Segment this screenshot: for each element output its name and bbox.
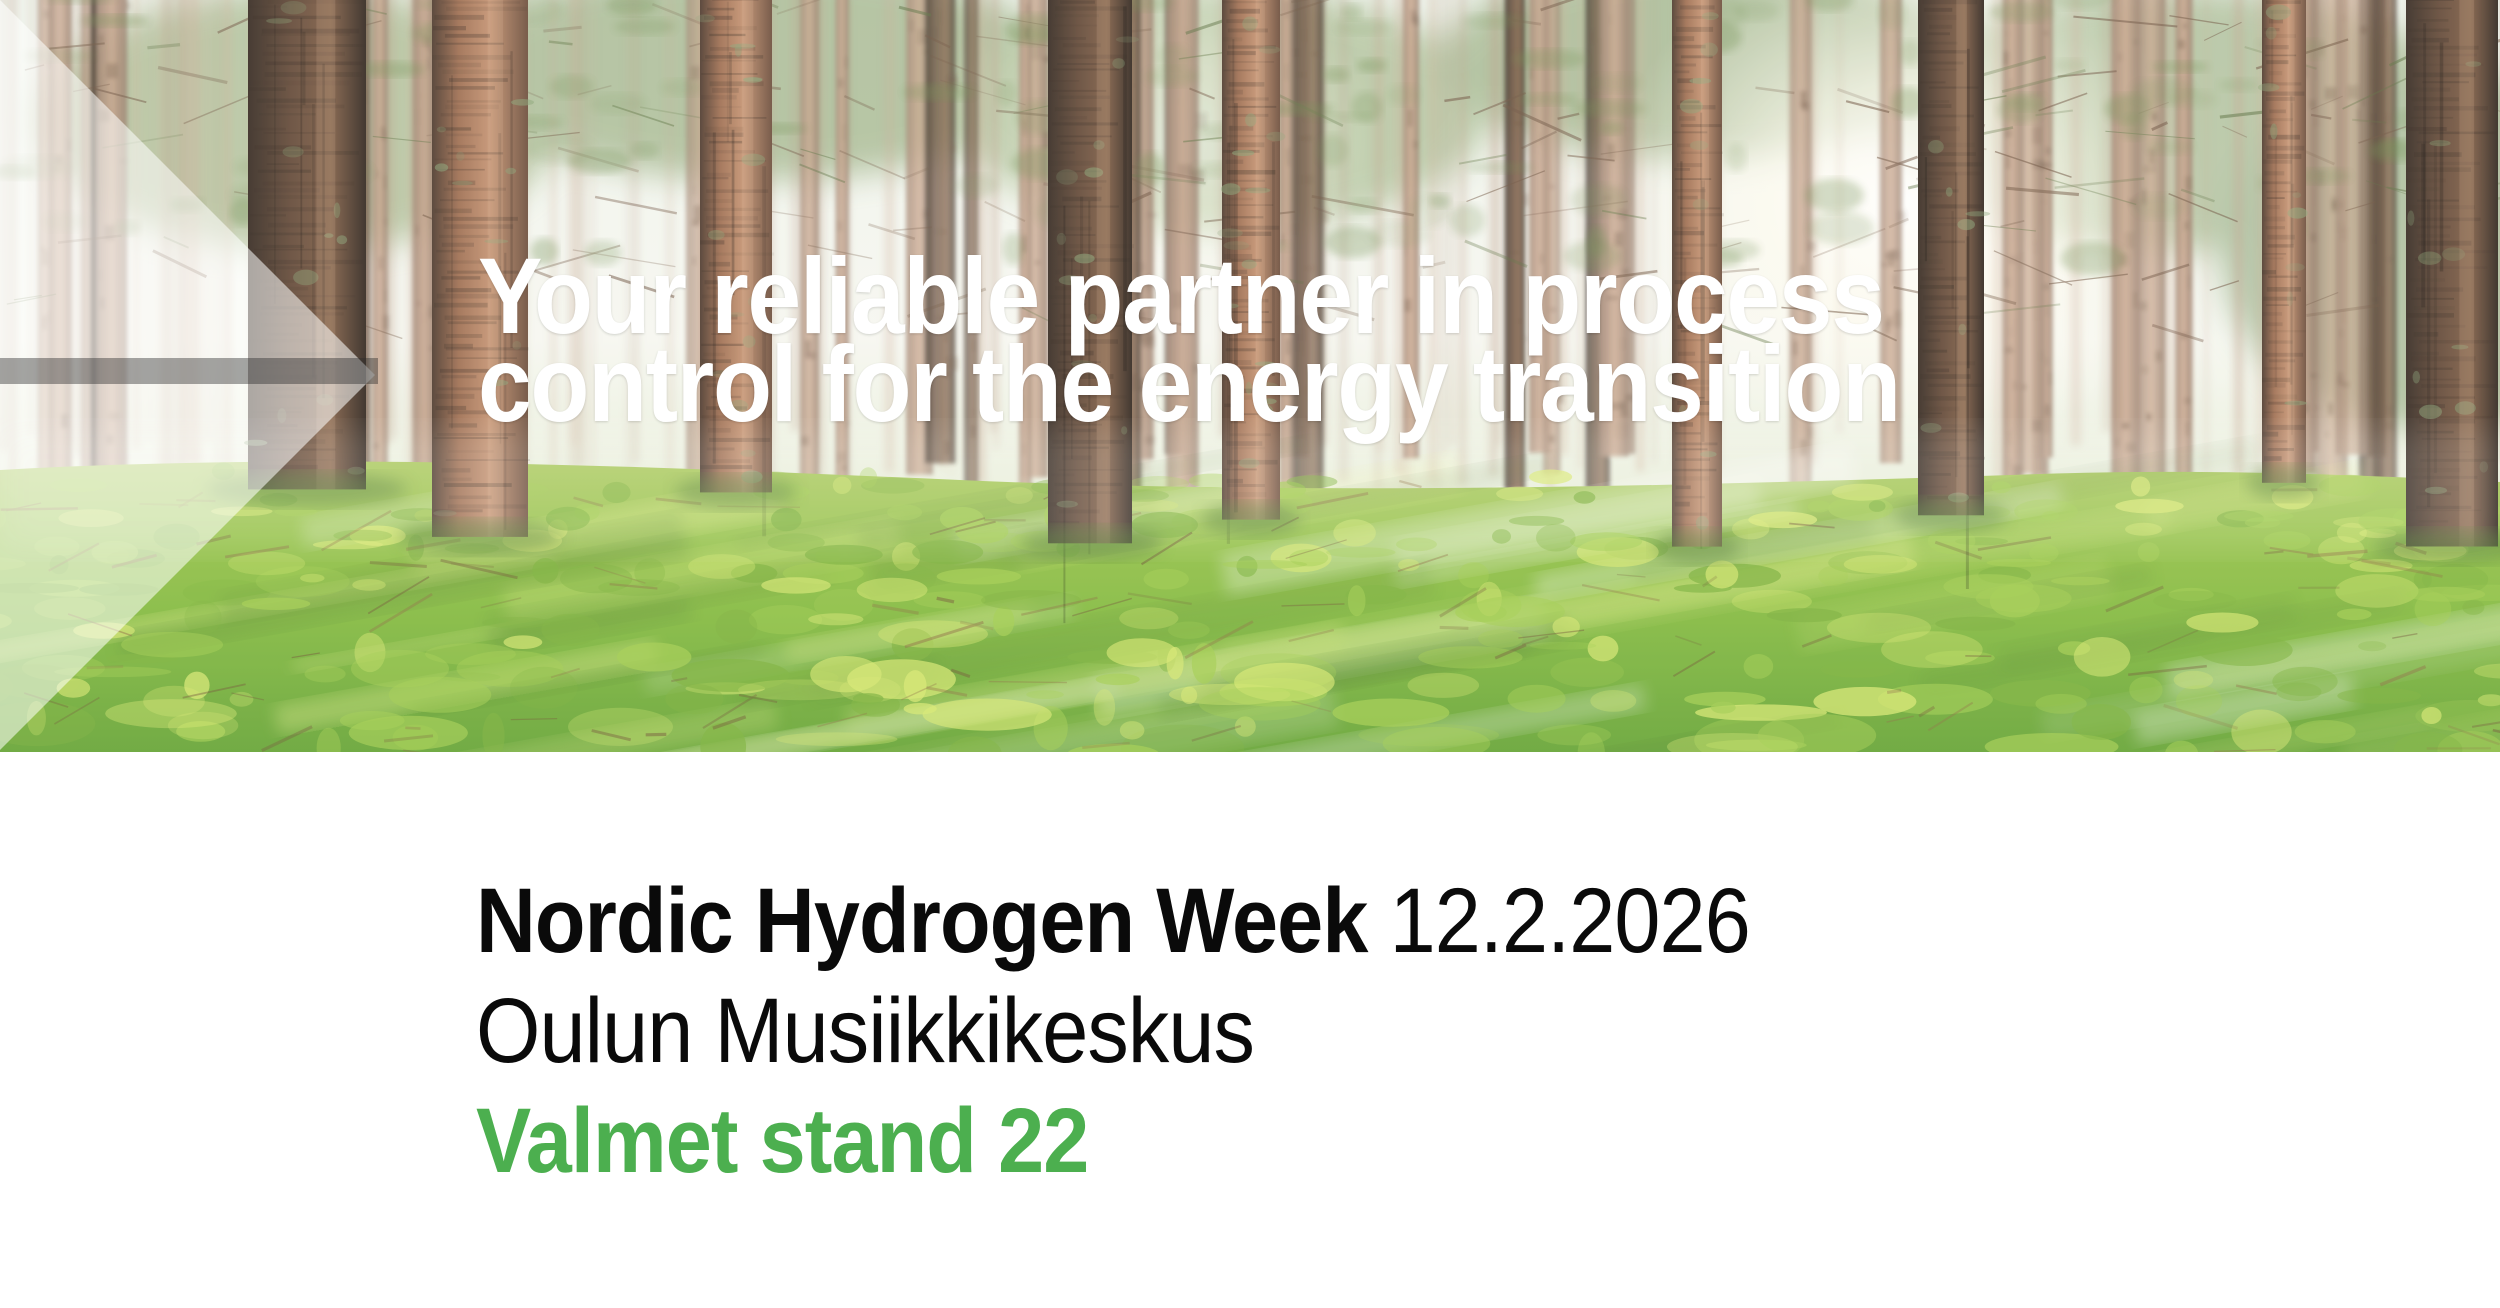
event-name: Nordic Hydrogen Week	[476, 870, 1367, 972]
event-venue: Oulun Musiikkikeskus	[476, 976, 1750, 1086]
valmet-event-banner: Your reliable partner in process control…	[0, 0, 2500, 1308]
event-caption-block: Nordic Hydrogen Week 12.2.2026 Oulun Mus…	[476, 866, 1750, 1196]
headline-line-2: control for the energy transition	[478, 340, 2089, 428]
event-title-line: Nordic Hydrogen Week 12.2.2026	[476, 866, 1750, 976]
event-date: 12.2.2026	[1367, 870, 1749, 972]
hero-headline: Your reliable partner in process control…	[478, 252, 2089, 428]
event-stand: Valmet stand 22	[476, 1086, 1750, 1196]
